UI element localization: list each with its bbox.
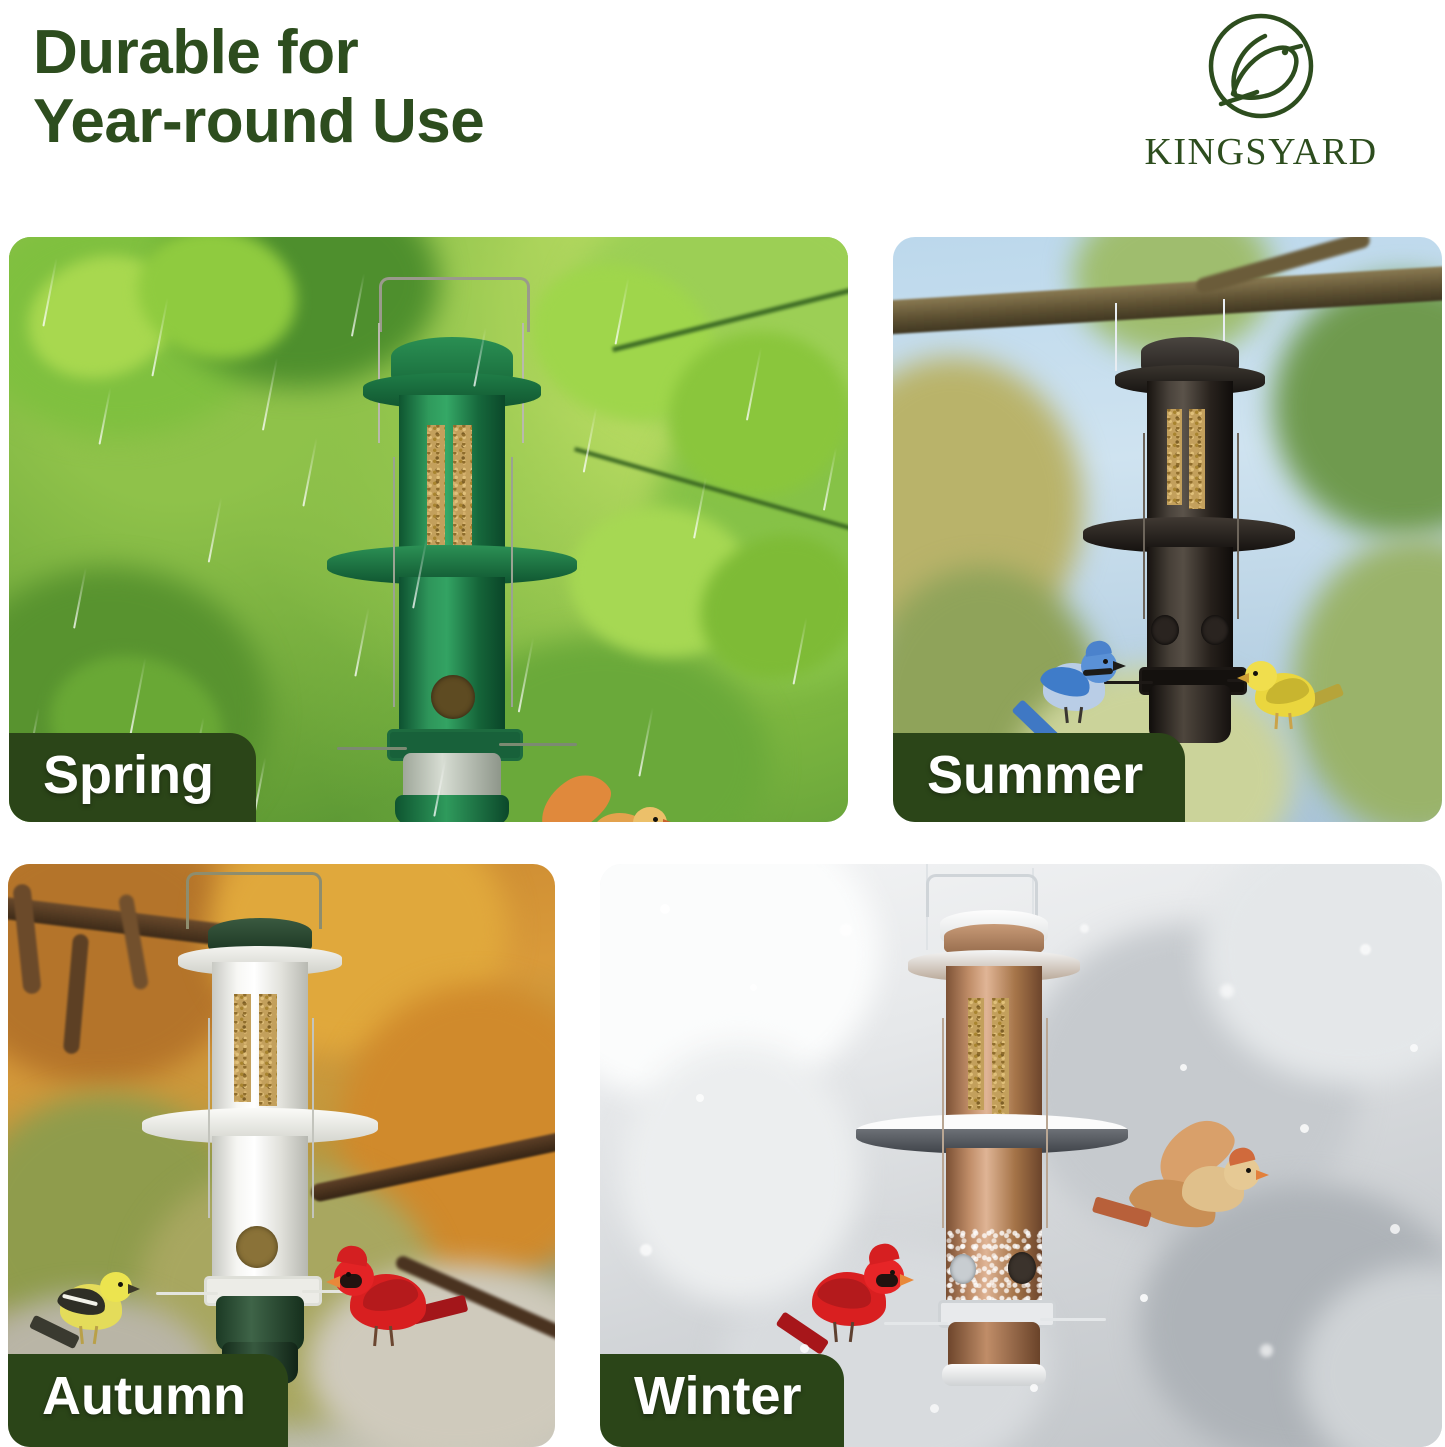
- season-label-winter: Winter: [600, 1354, 844, 1447]
- orange-bird-in-flight: [529, 777, 689, 822]
- northern-cardinal-perched: [326, 1252, 466, 1372]
- bird-in-circle-logo-icon: [1199, 8, 1323, 132]
- season-panel-spring[interactable]: Spring: [9, 237, 848, 822]
- brand-wordmark: KINGSYARD: [1111, 130, 1411, 174]
- season-panel-summer[interactable]: Summer: [893, 237, 1442, 822]
- season-panel-winter[interactable]: Winter: [600, 864, 1442, 1447]
- season-label-autumn: Autumn: [8, 1354, 288, 1447]
- goldfinch-perched: [1231, 655, 1341, 751]
- bird-feeder-green: [321, 277, 581, 822]
- goldfinch-left: [38, 1264, 158, 1364]
- female-cardinal-in-flight: [1100, 1126, 1280, 1266]
- season-label-summer: Summer: [893, 733, 1185, 822]
- header: Durable for Year-round Use KINGSYARD: [0, 0, 1445, 215]
- page-headline: Durable for Year-round Use: [33, 18, 484, 157]
- brand-logo: KINGSYARD: [1111, 8, 1411, 193]
- season-label-spring: Spring: [9, 733, 256, 822]
- season-panel-autumn[interactable]: Autumn: [8, 864, 555, 1447]
